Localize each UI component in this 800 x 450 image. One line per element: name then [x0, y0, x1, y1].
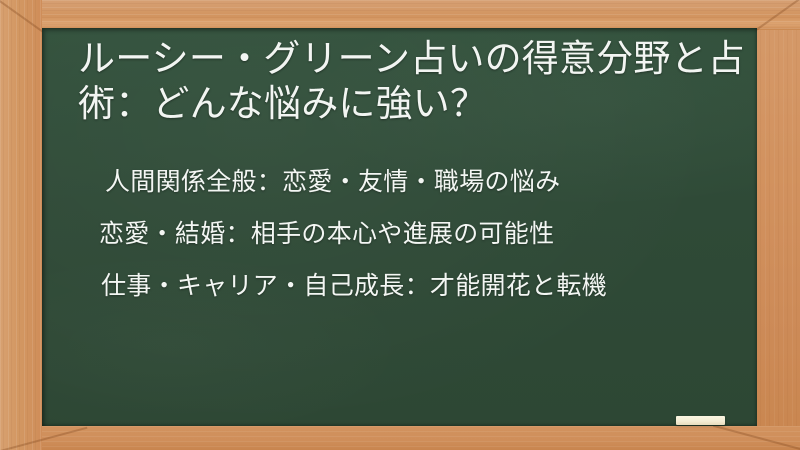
list-item: 恋愛・結婚：相手の本心や進展の可能性	[64, 208, 734, 260]
frame-rail-top	[0, 0, 800, 30]
list-item: 仕事・キャリア・自己成長：才能開花と転機	[64, 260, 734, 312]
chalkboard-slide: ルーシー・グリーン占いの得意分野と占術：どんな悩みに強い？ 人間関係全般：恋愛・…	[0, 0, 800, 450]
chalkboard-surface: ルーシー・グリーン占いの得意分野と占術：どんな悩みに強い？ 人間関係全般：恋愛・…	[42, 28, 757, 426]
bullet-list: 人間関係全般：恋愛・友情・職場の悩み 恋愛・結婚：相手の本心や進展の可能性 仕事…	[64, 156, 734, 312]
slide-title: ルーシー・グリーン占いの得意分野と占術：どんな悩みに強い？	[78, 36, 746, 126]
chalk-stick-icon	[676, 416, 725, 425]
list-item: 人間関係全般：恋愛・友情・職場の悩み	[64, 156, 734, 208]
frame-rail-right	[757, 0, 800, 450]
frame-rail-bottom	[0, 426, 800, 450]
frame-rail-left	[0, 0, 42, 450]
